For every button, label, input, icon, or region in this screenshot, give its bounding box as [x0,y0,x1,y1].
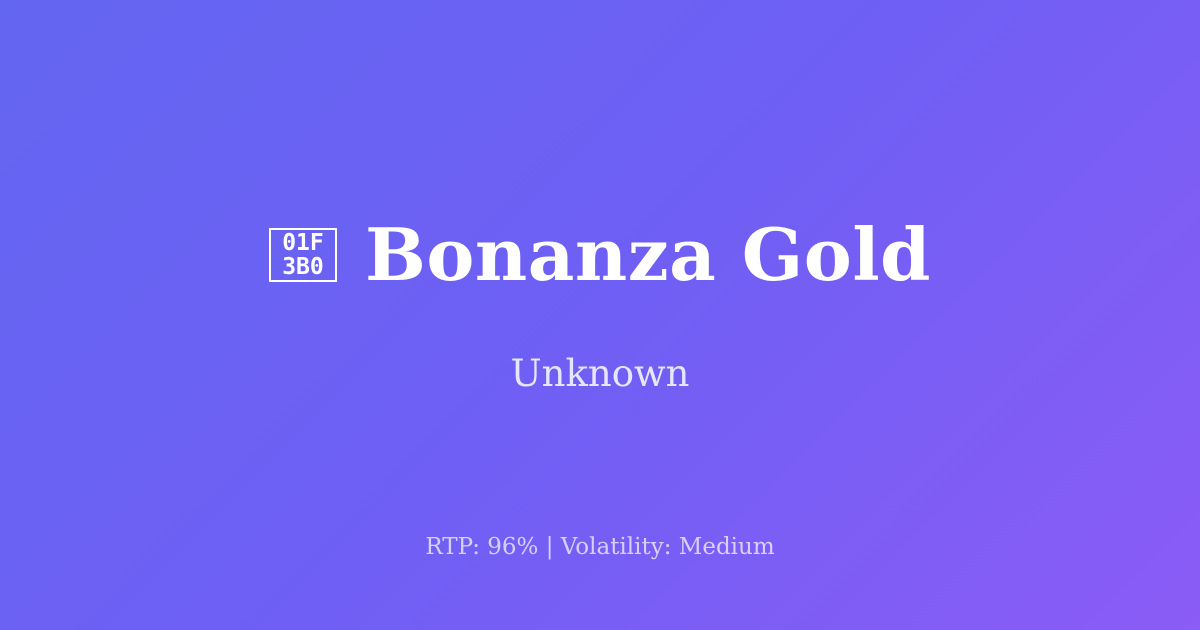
page-title: Bonanza Gold [365,217,931,293]
tofu-codepoint-row-top: 01F [282,231,324,255]
page-subtitle: Unknown [510,354,689,395]
title-row: 01F 3B0 Bonanza Gold [0,217,1200,293]
stats-footer: RTP: 96% | Volatility: Medium [0,534,1200,562]
tofu-codepoint-row-bottom: 3B0 [282,255,324,279]
og-card: 01F 3B0 Bonanza Gold Unknown RTP: 96% | … [0,0,1200,630]
slot-machine-icon: 01F 3B0 [269,228,337,282]
